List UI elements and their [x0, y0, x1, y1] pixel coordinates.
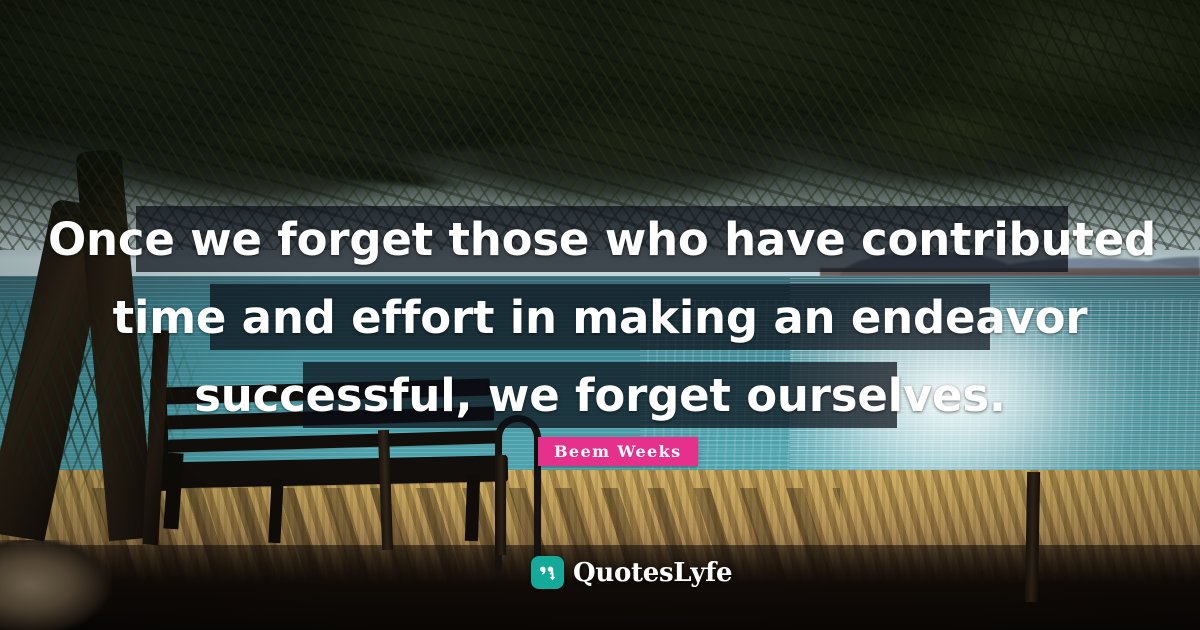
author-badge[interactable]: Beem Weeks [538, 437, 698, 466]
ladder-rail-right [534, 449, 541, 571]
sapling-stem-3 [1025, 472, 1040, 602]
drooping-branches [900, 0, 1200, 230]
foreground-rock [0, 540, 130, 630]
quote-marks-icon [531, 556, 564, 589]
brand-watermark[interactable]: QuotesLyfe [531, 556, 732, 589]
quote-line-2: time and effort in making an endeavor [210, 284, 990, 350]
bench-leg-mid [268, 479, 283, 544]
quote-line-3: successful, we forget ourselves. [303, 362, 897, 428]
bench-leg-right [465, 475, 480, 541]
quote-card: Once we forget those who have contribute… [0, 0, 1200, 630]
brand-name: QuotesLyfe [573, 558, 732, 588]
sapling-stem-2 [497, 455, 506, 555]
quote-line-1: Once we forget those who have contribute… [136, 206, 1068, 272]
